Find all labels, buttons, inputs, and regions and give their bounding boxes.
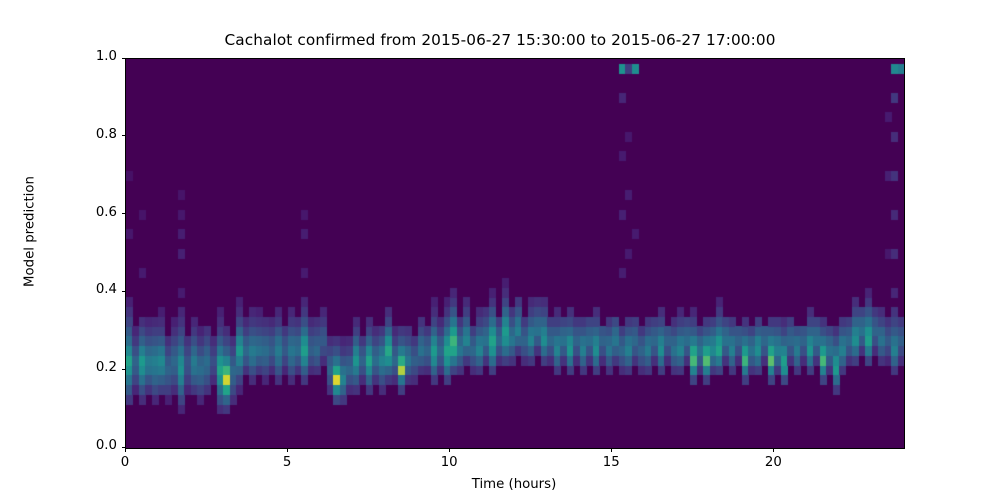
heatmap-canvas [126,59,904,448]
chart-figure: Cachalot confirmed from 2015-06-27 15:30… [0,0,1000,500]
x-tick-label: 10 [429,455,469,470]
x-tick-label: 20 [753,455,793,470]
y-tick-label: 0.8 [96,127,117,142]
x-tick-mark [287,448,288,452]
y-axis-label: Model prediction [23,142,38,322]
x-tick-label: 5 [267,455,307,470]
x-axis-label: Time (hours) [125,477,903,492]
y-tick-label: 0.4 [96,282,117,297]
x-tick-mark [449,448,450,452]
y-tick-label: 0.0 [96,438,117,453]
y-tick-label: 1.0 [96,49,117,64]
x-tick-label: 0 [105,455,145,470]
x-axis: Time (hours) 05101520 [125,447,903,500]
x-tick-label: 15 [591,455,631,470]
y-tick-label: 0.2 [96,360,117,375]
x-tick-mark [125,448,126,452]
heatmap-plot-area [125,58,905,449]
chart-title: Cachalot confirmed from 2015-06-27 15:30… [0,31,1000,49]
y-tick-label: 0.6 [96,205,117,220]
x-tick-mark [611,448,612,452]
y-axis: Model prediction 0.00.20.40.60.81.0 [0,58,125,447]
x-tick-mark [773,448,774,452]
